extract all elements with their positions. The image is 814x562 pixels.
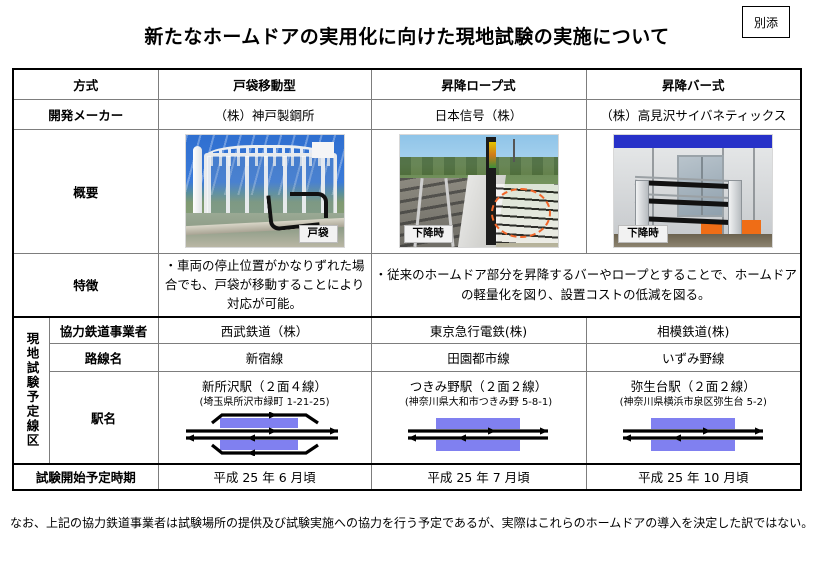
field-test-section-text: 現地試験予定線区 (25, 332, 38, 448)
station-name-3: 弥生台駅（２面２線） (590, 379, 798, 395)
field-test-summary-table: 方式 戸袋移動型 昇降ロープ式 昇降バー式 開発メーカー （株）神戸製鋼所 日本… (12, 68, 802, 491)
photo-movable-door-pocket: 戸袋 (185, 134, 345, 248)
maker-col-2: 日本信号（株） (371, 99, 586, 129)
row-label-railway-operator: 協力鉄道事業者 (49, 317, 158, 344)
table-row-start-period: 試験開始予定時期 平成 25 年 6 月頃 平成 25 年 7 月頃 平成 25… (13, 464, 801, 490)
row-label-overview: 概要 (13, 129, 158, 253)
photo-decor-trees (400, 157, 558, 175)
table-row-overview: 概要 戸袋 (13, 129, 801, 253)
photo-caption-2: 下降時 (404, 225, 454, 243)
footnote: なお、上記の協力鉄道事業者は試験場所の提供及び試験実施への協力を行う予定であるが… (10, 515, 810, 532)
start-period-col-1: 平成 25 年 6 月頃 (158, 464, 371, 490)
features-col-1: ・車両の停止位置がかなりずれた場合でも、戸袋が移動することにより対応が可能。 (158, 253, 371, 317)
photo-decor-signal (489, 142, 496, 168)
photo-bar-type: 下降時 (613, 134, 773, 248)
row-label-field-test-section: 現地試験予定線区 (13, 317, 49, 464)
photo-caption-3: 下降時 (618, 225, 668, 243)
track-diagram-holder-2 (375, 412, 583, 456)
row-label-start-period: 試験開始予定時期 (13, 464, 158, 490)
track-diagram-2men2sen-a (386, 412, 571, 456)
photo-decor-cable-2 (290, 192, 328, 218)
method-col-1: 戸袋移動型 (158, 69, 371, 99)
track-diagram-holder-1 (162, 412, 368, 456)
table-row-maker: 開発メーカー （株）神戸製鋼所 日本信号（株） （株）高見沢サイバネティックス (13, 99, 801, 129)
maker-col-3: （株）高見沢サイバネティックス (586, 99, 801, 129)
railway-operator-col-2: 東京急行電鉄(株) (371, 317, 586, 344)
line-name-col-3: いずみ野線 (586, 344, 801, 372)
photo-decor-orange-b (741, 220, 762, 233)
overview-photo-cell-2: 下降時 (371, 129, 586, 253)
station-name-1: 新所沢駅（２面４線） (162, 379, 368, 395)
track-diagram-2men4sen (172, 412, 357, 456)
table-row-features: 特徴 ・車両の停止位置がかなりずれた場合でも、戸袋が移動することにより対応が可能… (13, 253, 801, 317)
track-diagram-holder-3 (590, 412, 798, 456)
features-col-23: ・従来のホームドア部分を昇降するバーやロープとすることで、ホームドアの軽量化を図… (371, 253, 801, 317)
station-cell-1: 新所沢駅（２面４線） (埼玉県所沢市緑町 1-21-25) (158, 372, 371, 464)
table-row-line-name: 路線名 新宿線 田園都市線 いずみ野線 (13, 344, 801, 372)
table-row-method: 方式 戸袋移動型 昇降ロープ式 昇降バー式 (13, 69, 801, 99)
row-label-method: 方式 (13, 69, 158, 99)
maker-col-1: （株）神戸製鋼所 (158, 99, 371, 129)
station-cell-2: つきみ野駅（２面２線） (神奈川県大和市つきみ野 5-8-1) (371, 372, 586, 464)
table-row-railway-operator: 現地試験予定線区 協力鉄道事業者 西武鉄道（株） 東京急行電鉄(株) 相模鉄道(… (13, 317, 801, 344)
overview-photo-cell-1: 戸袋 (158, 129, 371, 253)
method-col-3: 昇降バー式 (586, 69, 801, 99)
photo-rope-type: 下降時 (399, 134, 559, 248)
overview-photo-cell-3: 下降時 (586, 129, 801, 253)
photo-decor-pylon (513, 139, 515, 161)
photo-decor-highlight-circle (491, 188, 551, 238)
start-period-col-3: 平成 25 年 10 月頃 (586, 464, 801, 490)
method-col-2: 昇降ロープ式 (371, 69, 586, 99)
photo-caption-1: 戸袋 (299, 225, 338, 243)
page-title: 新たなホームドアの実用化に向けた現地試験の実施について (0, 22, 814, 49)
station-address-1: (埼玉県所沢市緑町 1-21-25) (162, 396, 368, 409)
station-address-3: (神奈川県横浜市泉区弥生台 5-2) (590, 396, 798, 409)
station-cell-3: 弥生台駅（２面２線） (神奈川県横浜市泉区弥生台 5-2) (586, 372, 801, 464)
station-address-2: (神奈川県大和市つきみ野 5-8-1) (375, 396, 583, 409)
start-period-col-2: 平成 25 年 7 月頃 (371, 464, 586, 490)
photo-decor-blue-stripe (614, 135, 772, 148)
row-label-station-name: 駅名 (49, 372, 158, 464)
railway-operator-col-1: 西武鉄道（株） (158, 317, 371, 344)
row-label-maker: 開発メーカー (13, 99, 158, 129)
table-row-station-name: 駅名 新所沢駅（２面４線） (埼玉県所沢市緑町 1-21-25) (13, 372, 801, 464)
railway-operator-col-3: 相模鉄道(株) (586, 317, 801, 344)
track-diagram-2men2sen-b (601, 412, 786, 456)
row-label-line-name: 路線名 (49, 344, 158, 372)
row-label-features: 特徴 (13, 253, 158, 317)
station-name-2: つきみ野駅（２面２線） (375, 379, 583, 395)
line-name-col-2: 田園都市線 (371, 344, 586, 372)
line-name-col-1: 新宿線 (158, 344, 371, 372)
photo-decor-box (312, 142, 334, 158)
